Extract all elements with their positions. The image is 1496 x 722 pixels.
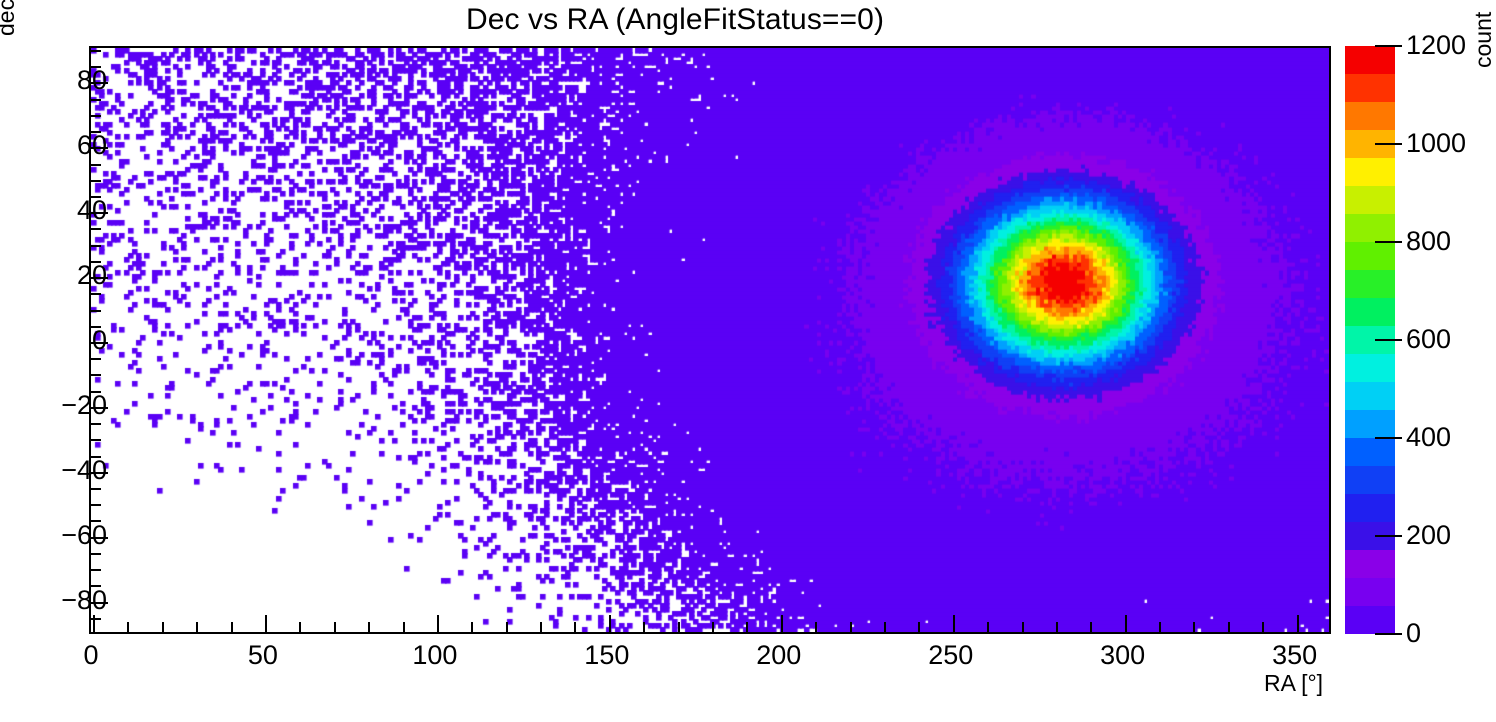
colorbar-tick	[1375, 535, 1402, 537]
y-tick	[91, 228, 101, 230]
colorbar-band	[1345, 438, 1395, 466]
y-tick	[91, 293, 101, 295]
colorbar-band	[1345, 410, 1395, 438]
x-tick	[643, 622, 645, 632]
colorbar-tick	[1375, 241, 1402, 243]
x-tick	[1022, 622, 1024, 632]
colorbar-band	[1345, 578, 1395, 606]
heatmap-surface	[91, 48, 1329, 632]
colorbar-band	[1345, 354, 1395, 382]
colorbar-tick-label: 0	[1406, 620, 1421, 647]
x-tick	[196, 622, 198, 632]
colorbar-band	[1345, 242, 1395, 270]
y-tick	[91, 99, 101, 101]
y-tick	[91, 504, 101, 506]
x-tick	[1125, 615, 1127, 632]
y-tick-label: −40	[37, 457, 107, 484]
colorbar-band	[1345, 298, 1395, 326]
x-tick	[850, 622, 852, 632]
colorbar-tick	[1375, 437, 1402, 439]
colorbar-band	[1345, 606, 1395, 634]
y-axis-title: declination [°]	[0, 0, 18, 36]
y-tick-label: 80	[37, 67, 107, 94]
x-tick-label: 250	[896, 640, 1006, 670]
x-tick	[746, 622, 748, 632]
x-tick	[265, 615, 267, 632]
colorbar-band	[1345, 214, 1395, 242]
x-tick-label: 150	[552, 640, 662, 670]
plot-frame	[89, 46, 1331, 634]
x-tick	[574, 622, 576, 632]
x-tick	[299, 622, 301, 632]
x-tick	[437, 615, 439, 632]
x-tick	[953, 615, 955, 632]
y-tick	[91, 164, 101, 166]
y-tick	[91, 569, 101, 571]
x-tick	[506, 622, 508, 632]
x-tick-label: 300	[1068, 640, 1178, 670]
colorbar-tick	[1375, 339, 1402, 341]
x-tick	[93, 615, 95, 632]
x-tick-label: 350	[1240, 640, 1350, 670]
y-tick	[91, 423, 101, 425]
x-tick	[231, 622, 233, 632]
x-tick	[815, 622, 817, 632]
x-tick	[403, 622, 405, 632]
y-tick-label: 60	[37, 132, 107, 159]
x-tick	[678, 622, 680, 632]
x-tick	[1193, 622, 1195, 632]
colorbar-tick-label: 200	[1406, 522, 1451, 549]
x-tick	[471, 622, 473, 632]
y-tick-label: −60	[37, 522, 107, 549]
y-tick	[91, 115, 101, 117]
y-tick	[91, 310, 101, 312]
y-tick-label: 0	[37, 327, 107, 354]
y-tick	[91, 553, 101, 555]
y-tick	[91, 245, 101, 247]
colorbar-tick	[1375, 45, 1402, 47]
y-tick	[91, 180, 101, 182]
y-tick	[91, 358, 101, 360]
chart-canvas: Dec vs RA (AngleFitStatus==0) declinatio…	[0, 0, 1496, 722]
colorbar-band	[1345, 158, 1395, 186]
x-tick	[987, 622, 989, 632]
colorbar-band	[1345, 382, 1395, 410]
y-tick	[91, 488, 101, 490]
colorbar-tick-label: 800	[1406, 228, 1451, 255]
colorbar-tick	[1375, 633, 1402, 635]
x-tick	[918, 622, 920, 632]
x-tick	[1228, 622, 1230, 632]
x-tick	[1090, 622, 1092, 632]
colorbar-tick-label: 600	[1406, 326, 1451, 353]
colorbar-band	[1345, 466, 1395, 494]
x-tick	[127, 622, 129, 632]
colorbar-tick-label: 400	[1406, 424, 1451, 451]
y-tick-label: −80	[37, 587, 107, 614]
x-tick	[334, 622, 336, 632]
x-tick	[540, 622, 542, 632]
colorbar-tick-label: 1000	[1406, 130, 1466, 157]
chart-title: Dec vs RA (AngleFitStatus==0)	[0, 2, 1350, 38]
colorbar-tick	[1375, 143, 1402, 145]
x-axis-title: RA [°]	[1264, 672, 1323, 695]
colorbar-tick-label: 1200	[1406, 32, 1466, 59]
y-tick	[91, 374, 101, 376]
x-tick	[1159, 622, 1161, 632]
x-tick	[368, 622, 370, 632]
y-tick-label: −20	[37, 392, 107, 419]
x-tick	[884, 622, 886, 632]
x-tick	[781, 615, 783, 632]
colorbar-band	[1345, 494, 1395, 522]
y-tick-label: 20	[37, 262, 107, 289]
y-tick	[91, 439, 101, 441]
colorbar-band	[1345, 102, 1395, 130]
colorbar-band	[1345, 550, 1395, 578]
x-tick	[712, 622, 714, 632]
x-tick-label: 0	[36, 640, 146, 670]
x-tick	[162, 622, 164, 632]
y-tick-label: 40	[37, 197, 107, 224]
x-tick-label: 100	[380, 640, 490, 670]
x-tick	[1056, 622, 1058, 632]
x-tick-label: 200	[724, 640, 834, 670]
x-tick	[1262, 622, 1264, 632]
colorbar-title: count	[1472, 12, 1495, 68]
colorbar-band	[1345, 46, 1395, 74]
x-tick	[1297, 615, 1299, 632]
colorbar-band	[1345, 186, 1395, 214]
colorbar-band	[1345, 270, 1395, 298]
x-tick	[609, 615, 611, 632]
y-tick	[91, 50, 101, 52]
colorbar-band	[1345, 74, 1395, 102]
x-tick-label: 50	[208, 640, 318, 670]
